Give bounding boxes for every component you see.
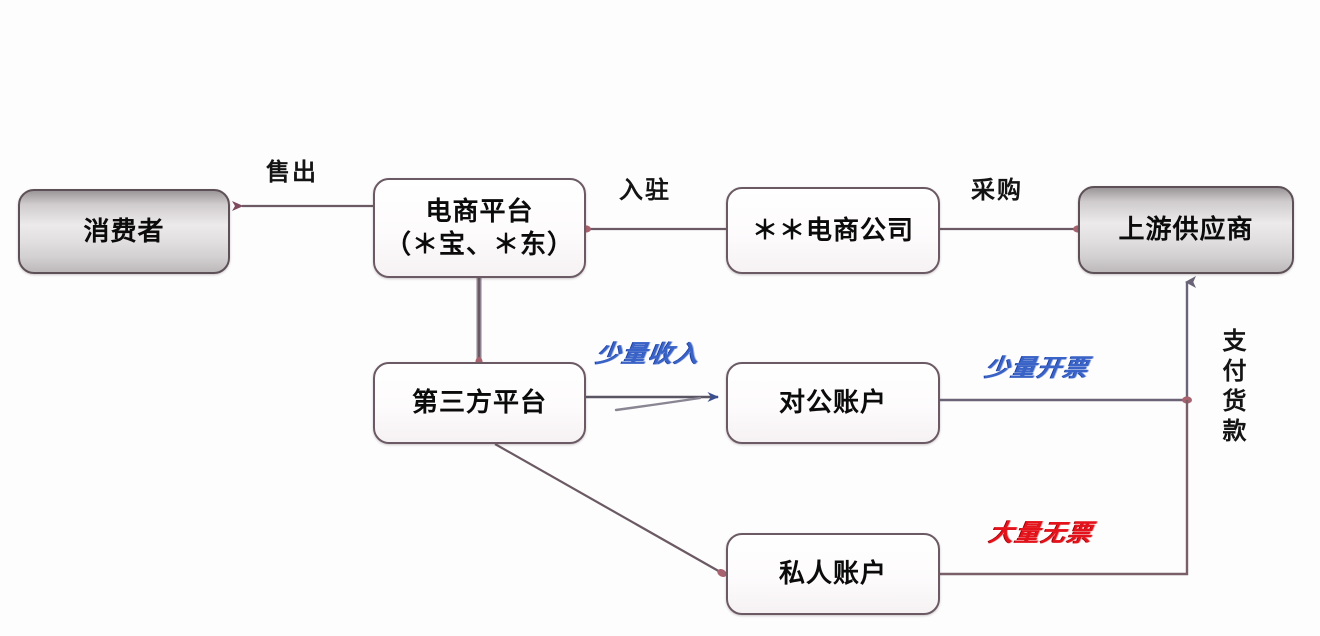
consumer-node-label: 消费者 bbox=[83, 215, 164, 248]
ecommerce-platform-node-label-line2: （＊宝、＊东） bbox=[385, 228, 574, 261]
ecommerce-platform-node[interactable]: 电商平台 （＊宝、＊东） bbox=[373, 178, 586, 278]
third-party-platform-node-label: 第三方平台 bbox=[412, 386, 547, 419]
edge-label-settle-in: 入驻 bbox=[619, 170, 671, 205]
edge-thirdparty-to-corporate bbox=[586, 397, 718, 410]
edge-corporate-to-supplier bbox=[940, 282, 1192, 404]
edge-label-small-income: 少量收入 bbox=[594, 334, 704, 369]
diagram-canvas: 消费者 电商平台 （＊宝、＊东） ＊＊电商公司 上游供应商 第三方平台 对公账户… bbox=[0, 0, 1320, 636]
edge-label-purchase: 采购 bbox=[971, 170, 1023, 205]
edge-label-bulk-noinvoice: 大量无票 bbox=[987, 513, 1097, 548]
personal-account-node[interactable]: 私人账户 bbox=[726, 533, 940, 615]
corporate-account-node-label: 对公账户 bbox=[779, 386, 887, 419]
consumer-node[interactable]: 消费者 bbox=[18, 189, 230, 274]
edge-label-small-invoice: 少量开票 bbox=[983, 348, 1093, 383]
third-party-platform-node[interactable]: 第三方平台 bbox=[373, 362, 586, 444]
personal-account-node-label: 私人账户 bbox=[779, 557, 887, 590]
corporate-account-node[interactable]: 对公账户 bbox=[726, 362, 940, 444]
edge-label-pay-goods: 支付货款 bbox=[1214, 328, 1249, 448]
ecommerce-platform-node-label-line1: 电商平台 bbox=[425, 195, 533, 228]
edge-label-sell: 售出 bbox=[266, 152, 318, 187]
edge-layer bbox=[0, 0, 1320, 636]
ecommerce-company-node-label: ＊＊电商公司 bbox=[752, 214, 914, 247]
ecommerce-company-node[interactable]: ＊＊电商公司 bbox=[726, 187, 940, 274]
upstream-supplier-node[interactable]: 上游供应商 bbox=[1078, 186, 1294, 274]
upstream-supplier-node-label: 上游供应商 bbox=[1118, 213, 1253, 246]
edge-thirdparty-to-personal bbox=[495, 444, 722, 573]
